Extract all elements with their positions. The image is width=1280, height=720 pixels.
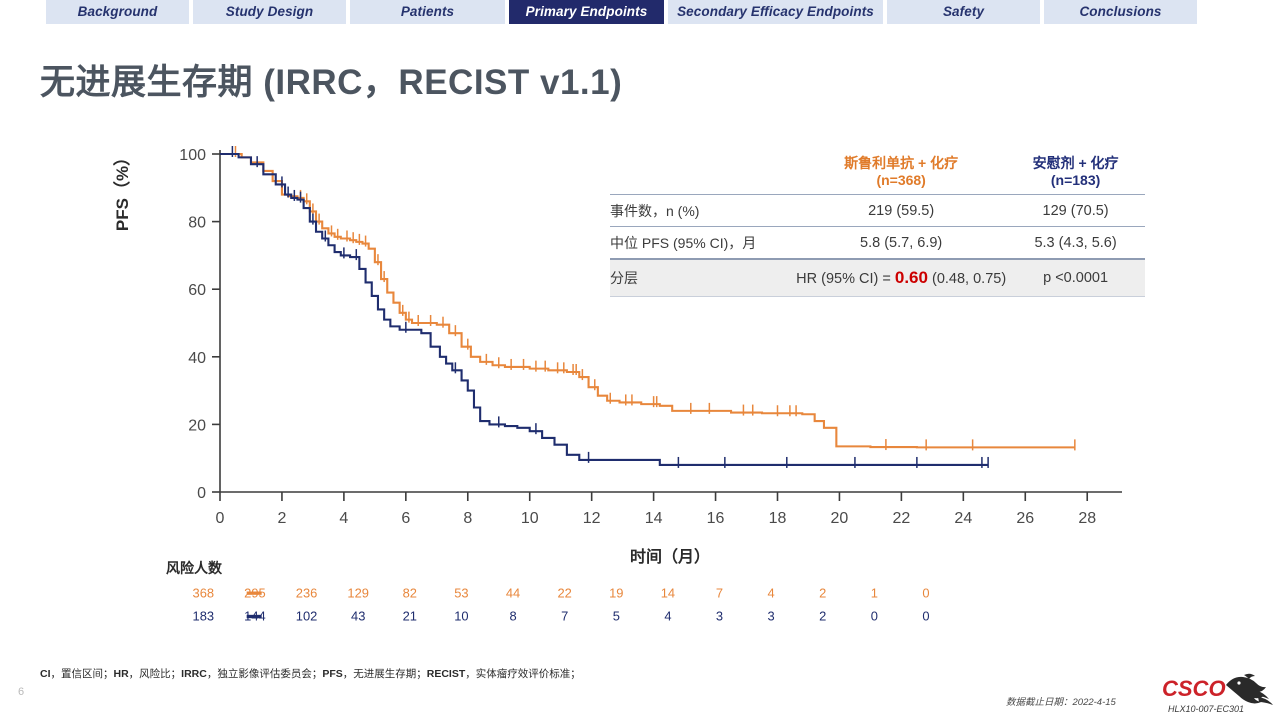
tab-conclusions[interactable]: Conclusions [1044, 0, 1197, 24]
risk-count: 295 [244, 585, 266, 600]
arm1-name: 斯鲁利单抗 + 化疗 [796, 155, 1006, 172]
csco-logo-text: CSCO [1162, 676, 1226, 701]
tab-background[interactable]: Background [46, 0, 189, 24]
tab-study-design[interactable]: Study Design [193, 0, 346, 24]
numbers-at-risk-table: 3682952361298253442219147421018314410243… [100, 584, 1140, 634]
risk-count: 82 [403, 585, 417, 600]
risk-count: 183 [193, 609, 215, 624]
risk-count: 2 [819, 609, 826, 624]
tab-primary-endpoints[interactable]: Primary Endpoints [509, 0, 664, 24]
arm2-name: 安慰剂 + 化疗 [1006, 155, 1145, 172]
stats-row-median-pfs: 中位 PFS (95% CI)，月 5.8 (5.7, 6.9) 5.3 (4.… [610, 227, 1145, 260]
events-arm2: 129 (70.5) [1006, 195, 1145, 227]
stats-row-hazard-ratio: 分层 HR (95% CI) = 0.60 (0.48, 0.75) p <0.… [610, 259, 1145, 297]
x-tick-label: 12 [583, 510, 601, 527]
arm1-n: (n=368) [796, 172, 1006, 189]
median-pfs-arm2: 5.3 (4.3, 5.6) [1006, 227, 1145, 260]
risk-count: 5 [613, 609, 620, 624]
hr-ci: (0.48, 0.75) [928, 271, 1006, 287]
risk-count: 22 [557, 585, 571, 600]
x-tick-label: 4 [339, 510, 348, 527]
median-pfs-arm1: 5.8 (5.7, 6.9) [796, 227, 1006, 260]
x-tick-label: 22 [892, 510, 910, 527]
risk-count: 3 [768, 609, 775, 624]
tab-patients[interactable]: Patients [350, 0, 505, 24]
risk-count: 19 [609, 585, 623, 600]
risk-table-title: 风险人数 [166, 558, 222, 578]
x-tick-label: 2 [277, 510, 286, 527]
events-arm1: 219 (59.5) [796, 195, 1006, 227]
section-nav-tabbar: Background Study Design Patients Primary… [0, 0, 1280, 24]
risk-count: 236 [296, 585, 318, 600]
risk-count: 44 [506, 585, 520, 600]
x-tick-label: 24 [954, 510, 972, 527]
x-tick-label: 20 [831, 510, 849, 527]
risk-count: 53 [454, 585, 468, 600]
stats-header-blank [610, 150, 796, 195]
page-number: 6 [18, 686, 24, 698]
x-tick-label: 0 [216, 510, 225, 527]
arm2-n: (n=183) [1006, 172, 1145, 189]
y-tick-label: 20 [188, 417, 206, 434]
hr-number: 0.60 [895, 268, 928, 287]
stats-header-arm2: 安慰剂 + 化疗 (n=183) [1006, 150, 1145, 195]
hr-prefix: HR (95% CI) = [796, 271, 895, 287]
tab-safety[interactable]: Safety [887, 0, 1040, 24]
slide-title: 无进展生存期 (IRRC，RECIST v1.1) [40, 54, 622, 105]
risk-count: 7 [561, 609, 568, 624]
risk-count: 129 [347, 585, 369, 600]
risk-count: 0 [871, 609, 878, 624]
footnote-abbreviations: CI，置信区间；HR，风险比；IRRC，独立影像评估委员会；PFS，无进展生存期… [40, 666, 581, 681]
x-tick-label: 26 [1016, 510, 1034, 527]
risk-count: 43 [351, 609, 365, 624]
risk-count: 1 [871, 585, 878, 600]
risk-count: 144 [244, 609, 266, 624]
risk-count: 7 [716, 585, 723, 600]
summary-stats-table: 斯鲁利单抗 + 化疗 (n=368) 安慰剂 + 化疗 (n=183) 事件数，… [610, 150, 1145, 297]
risk-count: 368 [193, 585, 215, 600]
x-tick-label: 16 [707, 510, 725, 527]
x-tick-label: 8 [463, 510, 472, 527]
risk-count: 0 [922, 609, 929, 624]
risk-count: 102 [296, 609, 318, 624]
y-tick-label: 80 [188, 215, 206, 232]
y-tick-label: 0 [197, 485, 206, 502]
risk-count: 8 [509, 609, 516, 624]
row-label-stratified: 分层 [610, 259, 796, 297]
stats-header-row: 斯鲁利单抗 + 化疗 (n=368) 安慰剂 + 化疗 (n=183) [610, 150, 1145, 195]
row-label-median-pfs: 中位 PFS (95% CI)，月 [610, 227, 796, 260]
x-tick-label: 14 [645, 510, 663, 527]
y-tick-label: 60 [188, 282, 206, 299]
tab-secondary-efficacy-endpoints[interactable]: Secondary Efficacy Endpoints [668, 0, 883, 24]
y-tick-label: 100 [179, 147, 206, 164]
x-tick-label: 6 [401, 510, 410, 527]
p-value: p <0.0001 [1006, 259, 1145, 297]
row-label-events: 事件数，n (%) [610, 195, 796, 227]
risk-count: 2 [819, 585, 826, 600]
risk-count: 4 [664, 609, 671, 624]
y-tick-label: 40 [188, 350, 206, 367]
stats-row-events: 事件数，n (%) 219 (59.5) 129 (70.5) [610, 195, 1145, 227]
risk-count: 21 [403, 609, 417, 624]
risk-count: 10 [454, 609, 468, 624]
data-cutoff-date: 数据截止日期：2022-4-15 [1006, 694, 1116, 708]
risk-count: 0 [922, 585, 929, 600]
x-tick-label: 10 [521, 510, 539, 527]
hazard-ratio-value: HR (95% CI) = 0.60 (0.48, 0.75) [796, 259, 1006, 297]
stats-header-arm1: 斯鲁利单抗 + 化疗 (n=368) [796, 150, 1006, 195]
x-tick-label: 28 [1078, 510, 1096, 527]
risk-count: 3 [716, 609, 723, 624]
csco-logo: CSCO [1160, 672, 1278, 712]
x-tick-label: 18 [769, 510, 787, 527]
risk-count: 14 [661, 585, 675, 600]
risk-count: 4 [768, 585, 775, 600]
csco-dragon-icon [1226, 674, 1273, 705]
